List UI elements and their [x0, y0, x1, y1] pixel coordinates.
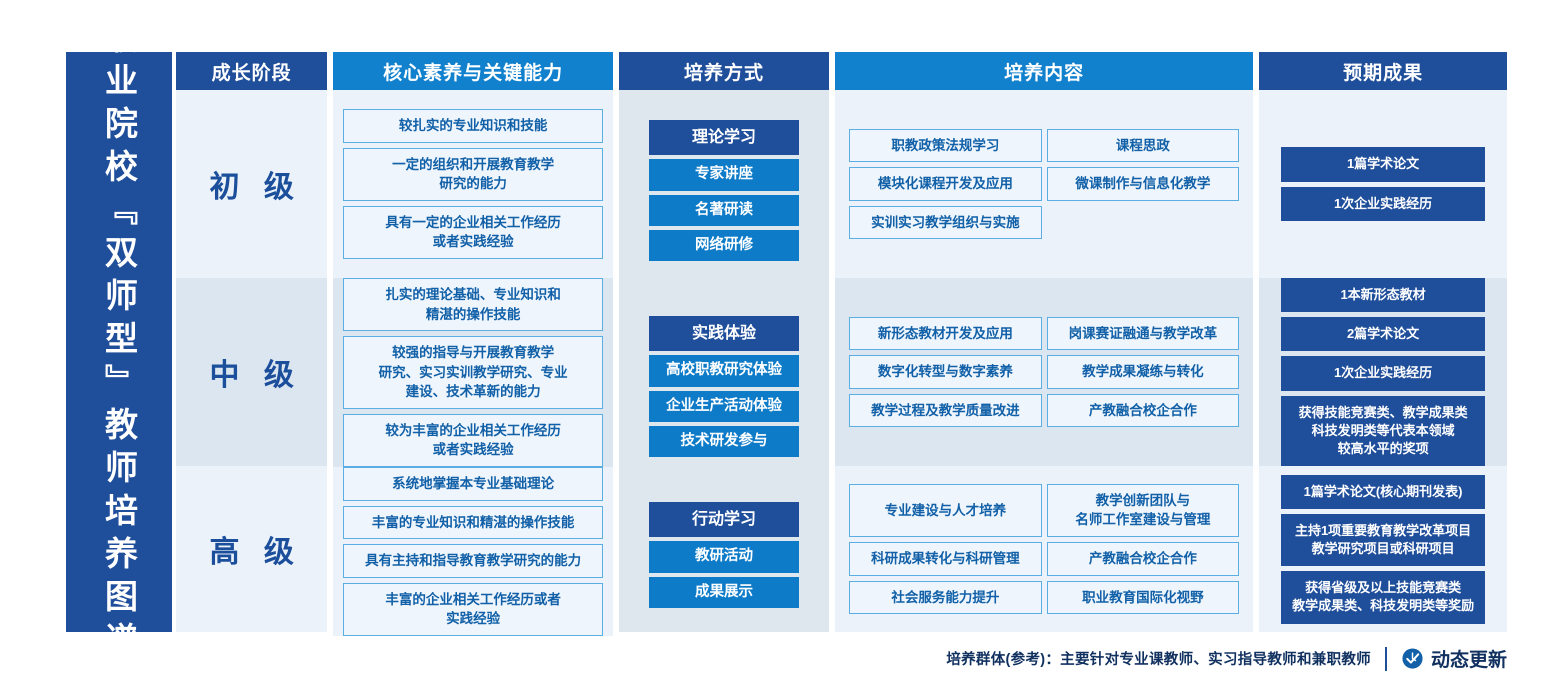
content-chip[interactable]: 课程思政 [1047, 129, 1240, 163]
outcome-cell-row2: 1篇学术论文(核心期刊发表) 主持1项重要教育教学改革项目 教学研究项目或科研项… [1259, 466, 1507, 632]
core-chip[interactable]: 具有一定的企业相关工作经历 或者实践经验 [343, 206, 603, 259]
method-item[interactable]: 技术研发参与 [649, 426, 799, 457]
content-chip[interactable]: 新形态教材开发及应用 [849, 317, 1042, 351]
core-chip[interactable]: 较为丰富的企业相关工作经历 或者实践经验 [343, 414, 603, 467]
content-chip[interactable]: 专业建设与人才培养 [849, 484, 1042, 537]
method-group-title[interactable]: 实践体验 [649, 316, 799, 351]
content-chip[interactable]: 产教融合校企合作 [1047, 542, 1240, 576]
core-chip[interactable]: 丰富的专业知识和精湛的操作技能 [343, 506, 603, 540]
dynamic-update-label: 动态更新 [1431, 645, 1507, 672]
core-chip[interactable]: 丰富的企业相关工作经历或者 实践经验 [343, 583, 603, 636]
column-method: 培养方式 理论学习 专家讲座 名著研读 网络研修 实践体验 高校职教研究体验 企… [619, 52, 829, 632]
outcome-item[interactable]: 1次企业实践经历 [1281, 356, 1485, 390]
content-chip[interactable]: 社会服务能力提升 [849, 581, 1042, 615]
method-item[interactable]: 高校职教研究体验 [649, 355, 799, 386]
content-chip[interactable]: 科研成果转化与科研管理 [849, 542, 1042, 576]
content-cell-row1: 新形态教材开发及应用 岗课赛证融通与教学改革 数字化转型与数字素养 教学成果凝练… [835, 278, 1253, 466]
content-chip[interactable]: 产教融合校企合作 [1047, 394, 1240, 428]
column-stage: 成长阶段 初 级 中 级 高 级 [176, 52, 327, 632]
method-item[interactable]: 企业生产活动体验 [649, 391, 799, 422]
core-chip[interactable]: 较扎实的专业知识和技能 [343, 109, 603, 143]
content-chip[interactable]: 数字化转型与数字素养 [849, 355, 1042, 389]
outcome-cell-row1: 1本新形态教材 2篇学术论文 1次企业实践经历 获得技能竞赛类、教学成果类 科技… [1259, 278, 1507, 466]
stage-cell-row1: 中 级 [176, 278, 327, 466]
core-cell-row1: 扎实的理论基础、专业知识和 精湛的操作技能 较强的指导与开展教育教学 研究、实习… [333, 278, 613, 467]
method-group-0: 理论学习 专家讲座 名著研读 网络研修 [619, 90, 829, 278]
column-header-content: 培养内容 [835, 52, 1253, 90]
content-cell-row2: 专业建设与人才培养 教学创新团队与 名师工作室建设与管理 科研成果转化与科研管理… [835, 466, 1253, 632]
content-chip[interactable]: 职教政策法规学习 [849, 129, 1042, 163]
method-item[interactable]: 专家讲座 [649, 159, 799, 190]
stage-cell-row0: 初 级 [176, 90, 327, 278]
stage-label: 初 级 [176, 162, 327, 206]
core-chip[interactable]: 系统地掌握本专业基础理论 [343, 467, 603, 501]
outcome-item[interactable]: 2篇学术论文 [1281, 317, 1485, 351]
core-cell-row2: 系统地掌握本专业基础理论 丰富的专业知识和精湛的操作技能 具有主持和指导教育教学… [333, 467, 613, 636]
content-chip[interactable]: 教学成果凝练与转化 [1047, 355, 1240, 389]
content-chip[interactable]: 教学过程及教学质量改进 [849, 394, 1042, 428]
stage-label: 中 级 [176, 350, 327, 394]
column-content: 培养内容 职教政策法规学习 课程思政 模块化课程开发及应用 微课制作与信息化教学… [835, 52, 1253, 632]
content-chip[interactable]: 岗课赛证融通与教学改革 [1047, 317, 1240, 351]
method-item[interactable]: 成果展示 [649, 577, 799, 608]
method-group-title[interactable]: 理论学习 [649, 120, 799, 155]
content-cell-row0: 职教政策法规学习 课程思政 模块化课程开发及应用 微课制作与信息化教学 实训实习… [835, 90, 1253, 278]
outcome-item[interactable]: 1篇学术论文 [1281, 147, 1485, 181]
column-header-stage: 成长阶段 [176, 52, 327, 90]
stage-label: 高 级 [176, 527, 327, 571]
column-outcome: 预期成果 1篇学术论文 1次企业实践经历 1本新形态教材 2篇学术论文 1次企业… [1259, 52, 1507, 632]
footer-note: 培养群体(参考)：主要针对专业课教师、实习指导教师和兼职教师 [946, 648, 1371, 669]
page-title: 职业院校『双师型』教师培养图谱 [103, 20, 136, 665]
method-group-1: 实践体验 高校职教研究体验 企业生产活动体验 技术研发参与 [619, 278, 829, 466]
column-header-outcome: 预期成果 [1259, 52, 1507, 90]
method-item[interactable]: 网络研修 [649, 230, 799, 261]
core-chip[interactable]: 具有主持和指导教育教学研究的能力 [343, 544, 603, 578]
outcome-item[interactable]: 主持1项重要教育教学改革项目 教学研究项目或科研项目 [1281, 514, 1485, 566]
content-chip[interactable]: 职业教育国际化视野 [1047, 581, 1240, 615]
footer-divider [1385, 647, 1387, 671]
method-item[interactable]: 名著研读 [649, 195, 799, 226]
stage-cell-row2: 高 级 [176, 466, 327, 632]
core-cell-row0: 较扎实的专业知识和技能 一定的组织和开展教育教学 研究的能力 具有一定的企业相关… [333, 90, 613, 278]
outcome-item[interactable]: 获得省级及以上技能竞赛类 教学成果类、科技发明类等奖励 [1281, 571, 1485, 623]
content-chip[interactable]: 实训实习教学组织与实施 [849, 206, 1042, 240]
method-group-title[interactable]: 行动学习 [649, 502, 799, 537]
infographic-page: 职业院校『双师型』教师培养图谱 成长阶段 初 级 中 级 高 级 核心素养与关键… [0, 0, 1543, 699]
method-item[interactable]: 教研活动 [649, 541, 799, 572]
column-header-core: 核心素养与关键能力 [333, 52, 613, 90]
core-chip[interactable]: 一定的组织和开展教育教学 研究的能力 [343, 148, 603, 201]
footer: 培养群体(参考)：主要针对专业课教师、实习指导教师和兼职教师 动态更新 [946, 645, 1507, 672]
clock-check-icon [1401, 647, 1424, 670]
content-chip[interactable]: 微课制作与信息化教学 [1047, 167, 1240, 201]
dynamic-update-badge[interactable]: 动态更新 [1401, 645, 1507, 672]
outcome-item[interactable]: 1次企业实践经历 [1281, 187, 1485, 221]
outcome-cell-row0: 1篇学术论文 1次企业实践经历 [1259, 90, 1507, 278]
outcome-item[interactable]: 1本新形态教材 [1281, 278, 1485, 312]
content-chip[interactable]: 模块化课程开发及应用 [849, 167, 1042, 201]
column-header-method: 培养方式 [619, 52, 829, 90]
matrix: 成长阶段 初 级 中 级 高 级 核心素养与关键能力 较扎实的专业知识和技能 [176, 52, 1507, 632]
outcome-item[interactable]: 获得技能竞赛类、教学成果类 科技发明类等代表本领域 较高水平的奖项 [1281, 396, 1485, 467]
outcome-item[interactable]: 1篇学术论文(核心期刊发表) [1281, 475, 1485, 509]
method-group-2: 行动学习 教研活动 成果展示 [619, 466, 829, 632]
content-chip[interactable]: 教学创新团队与 名师工作室建设与管理 [1047, 484, 1240, 537]
vertical-title-bar: 职业院校『双师型』教师培养图谱 [66, 52, 172, 632]
column-core-competency: 核心素养与关键能力 较扎实的专业知识和技能 一定的组织和开展教育教学 研究的能力… [333, 52, 613, 632]
core-chip[interactable]: 扎实的理论基础、专业知识和 精湛的操作技能 [343, 278, 603, 331]
core-chip[interactable]: 较强的指导与开展教育教学 研究、实习实训教学研究、专业 建设、技术革新的能力 [343, 336, 603, 409]
